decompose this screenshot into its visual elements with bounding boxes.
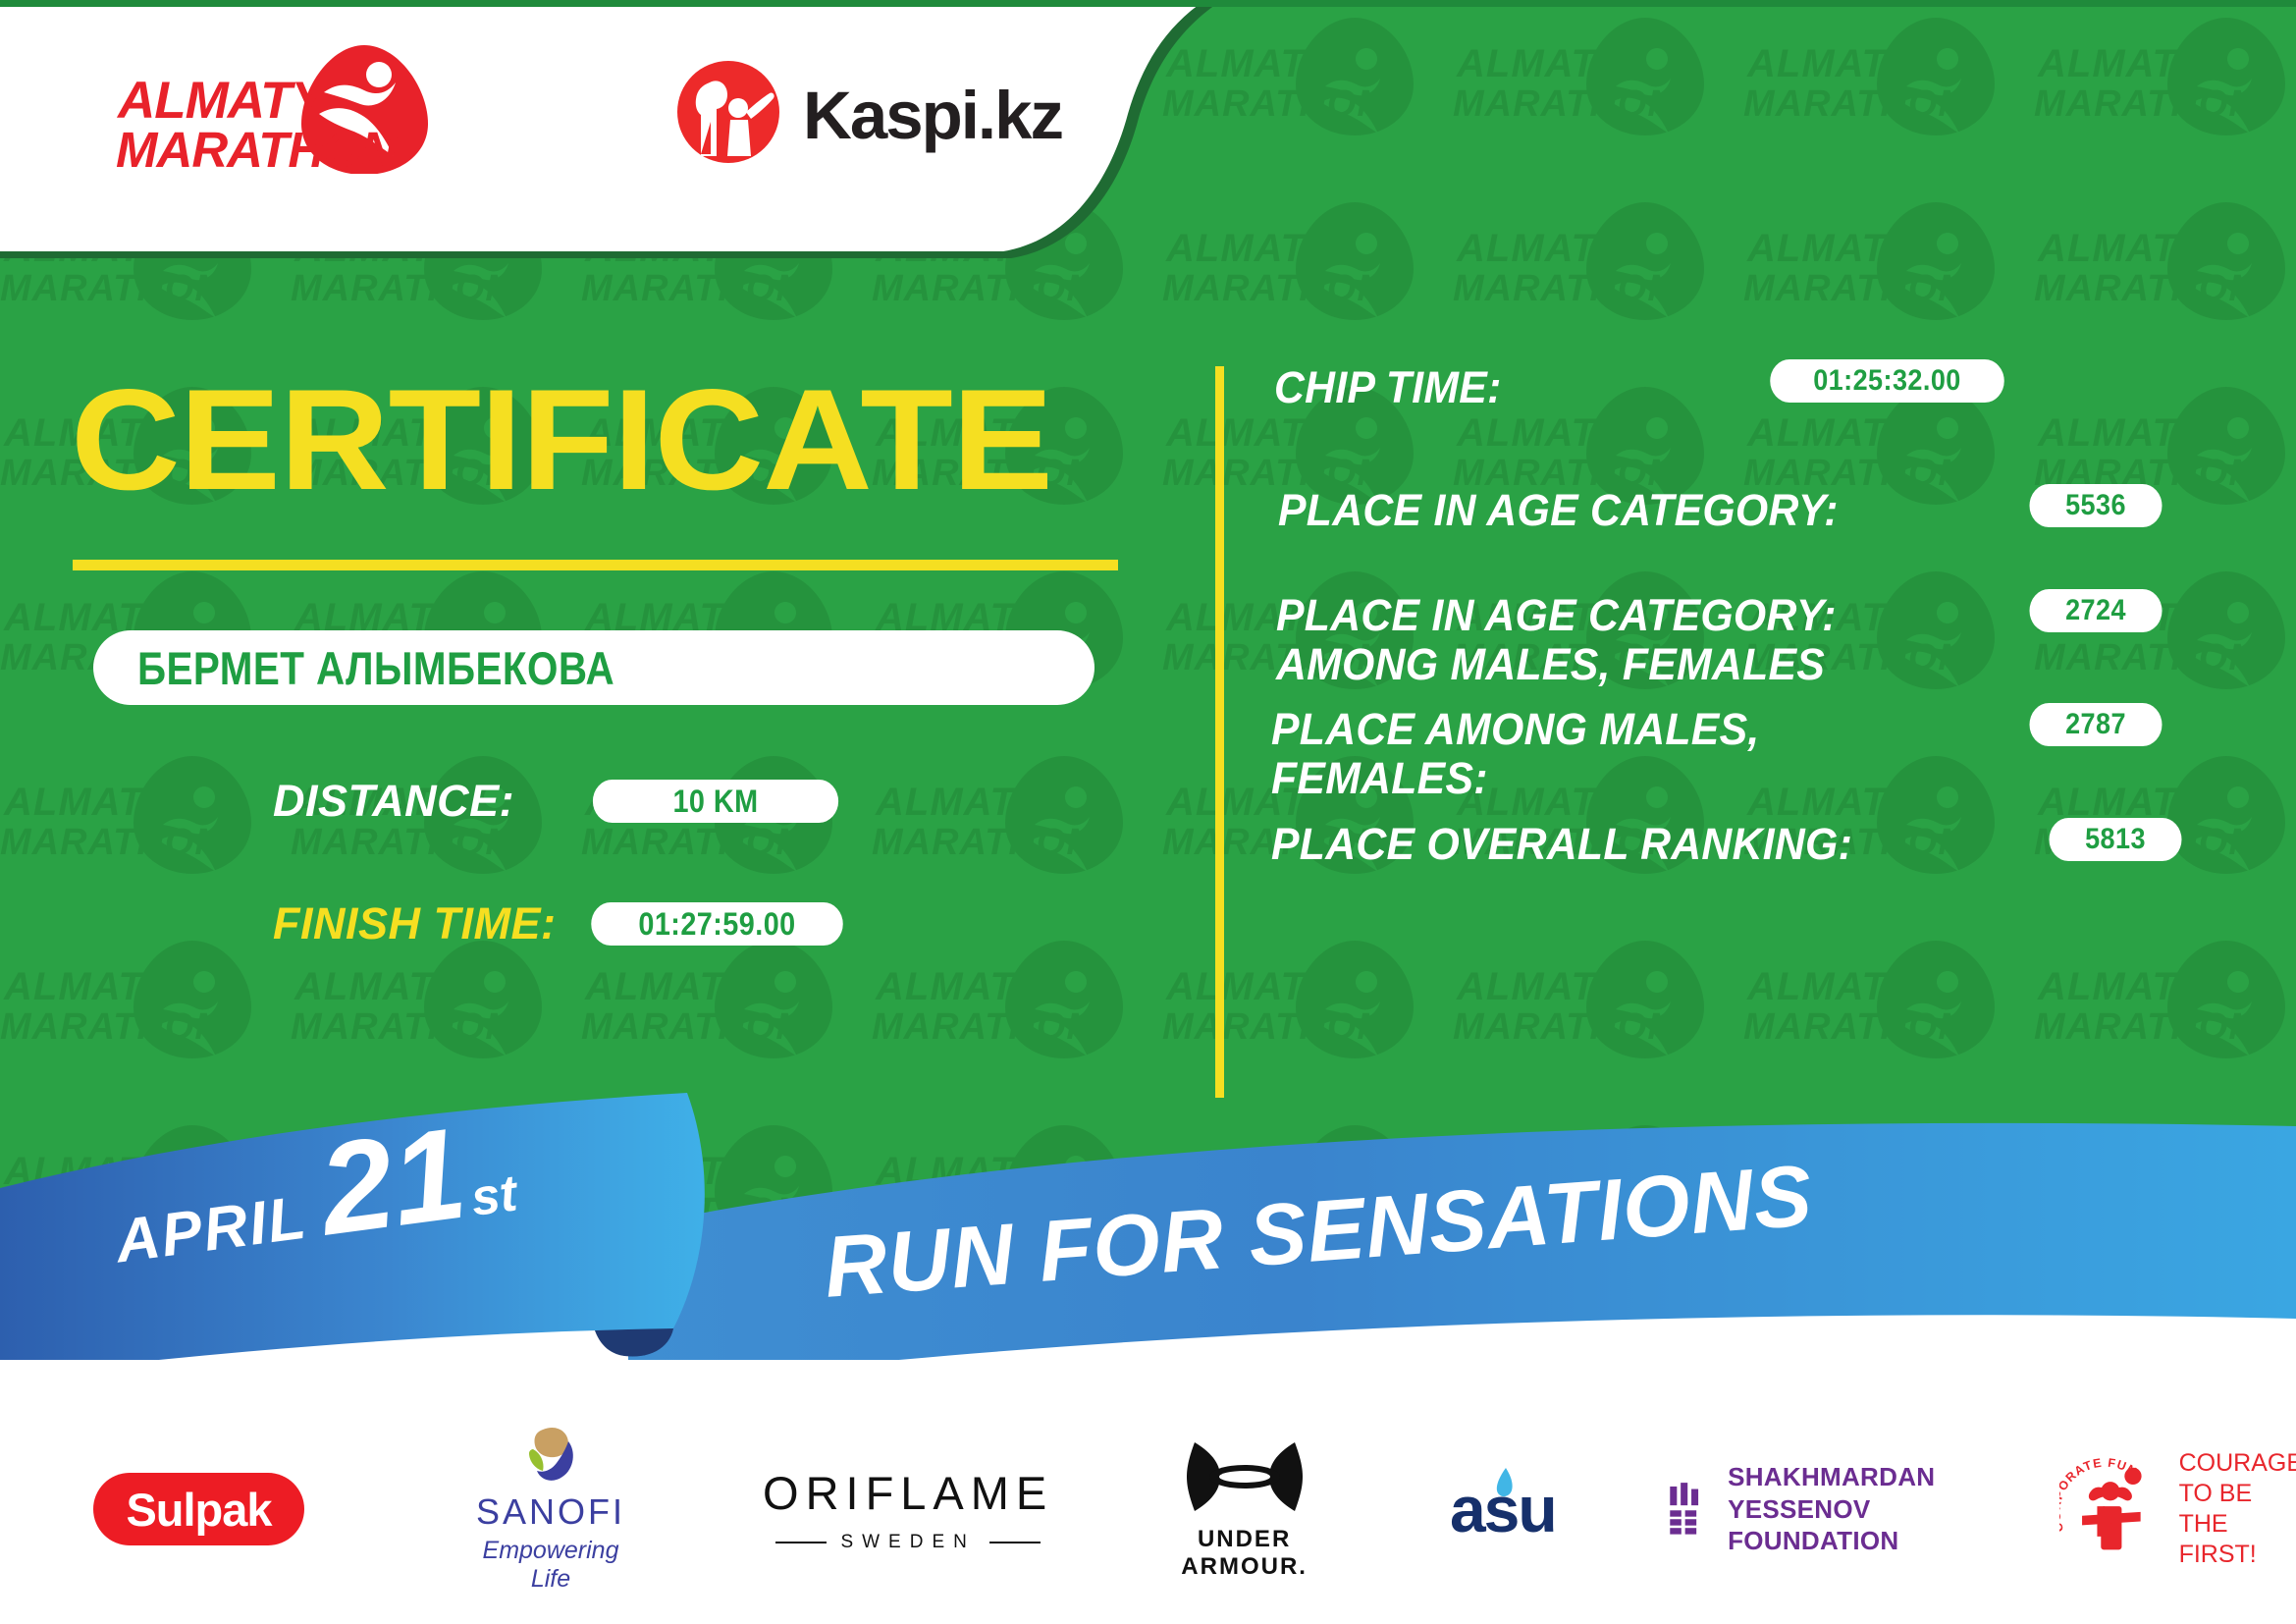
place-among-gender-label: PLACE AMONG MALES,FEMALES:	[1271, 705, 1760, 804]
event-day: 21	[313, 1108, 473, 1255]
courage-line1: COURAGE	[2179, 1448, 2296, 1479]
participant-name-field: БЕРМЕТ АЛЫМБЕКОВА	[93, 630, 1095, 705]
yessenov-bars-icon	[1669, 1468, 1706, 1550]
under-armour-logo: UNDER ARMOUR.	[1181, 1438, 1308, 1581]
oriflame-logo: ORIFLAME SWEDEN	[763, 1466, 1053, 1553]
finish-time-label: FINISH TIME:	[273, 898, 556, 949]
sanofi-name: SANOFI	[476, 1491, 625, 1533]
sanofi-logo: SANOFI Empowering Life	[476, 1426, 625, 1594]
sanofi-tagline: Empowering Life	[476, 1537, 625, 1594]
chip-time-label: CHIP TIME:	[1274, 363, 1502, 412]
courage-fund-runner-icon: CORPORATE FUND	[2059, 1451, 2165, 1567]
place-overall-value: 5813	[2050, 818, 2182, 861]
sponsor-strip: Sulpak SANOFI Empowering Life ORIFLAME S…	[0, 1394, 2296, 1624]
sponsor-sanofi: SANOFI Empowering Life	[476, 1440, 625, 1578]
kaspi-logo-text: Kaspi.kz	[803, 78, 1062, 153]
sponsor-sulpak: Sulpak	[93, 1440, 304, 1578]
sulpak-logo: Sulpak	[93, 1473, 304, 1545]
kaspi-people-circle-icon	[677, 61, 779, 163]
courage-fund-logo: CORPORATE FUND COURAGE TO BE THE FIRST!	[2059, 1448, 2296, 1571]
asu-logo: asu	[1450, 1472, 1556, 1546]
certificate-page: ALMATY MARATHON ALMATY MARATHON	[0, 0, 2296, 1624]
under-armour-mark-icon	[1187, 1438, 1303, 1515]
courage-line2: TO BE	[2179, 1479, 2296, 1509]
place-age-category-gender-value: 2724	[2030, 589, 2163, 632]
almaty-logo-line2: MARATHON	[116, 122, 399, 174]
distance-value: 10 KM	[593, 780, 838, 823]
place-overall-label: PLACE OVERALL RANKING:	[1271, 820, 1852, 869]
yessenov-name-line1: SHAKHMARDAN YESSENOV	[1728, 1461, 1956, 1525]
page-title: CERTIFICATE	[71, 368, 1052, 512]
place-among-gender-value: 2787	[2030, 703, 2163, 746]
courage-line3: THE FIRST!	[2179, 1509, 2296, 1571]
result-row-place-age-category-gender: PLACE IN AGE CATEGORY:AMONG MALES, FEMAL…	[1266, 591, 2189, 690]
oriflame-name: ORIFLAME	[763, 1466, 1053, 1520]
almaty-marathon-logo: ALMATY MARATHON	[116, 41, 440, 174]
oriflame-rule-left	[775, 1542, 827, 1543]
finish-time-row: FINISH TIME: 01:27:59.00	[273, 898, 857, 949]
sponsor-oriflame: ORIFLAME SWEDEN	[763, 1440, 1053, 1578]
under-armour-name: UNDER ARMOUR.	[1181, 1526, 1308, 1581]
top-green-edge	[0, 0, 2296, 7]
yessenov-logo: SHAKHMARDAN YESSENOV FOUNDATION	[1669, 1461, 1956, 1557]
sponsor-asu: asu	[1450, 1440, 1556, 1578]
participant-name-value: БЕРМЕТ АЛЫМБЕКОВА	[137, 641, 614, 695]
place-age-category-gender-label: PLACE IN AGE CATEGORY:AMONG MALES, FEMAL…	[1276, 591, 1837, 690]
finish-time-value: 01:27:59.00	[592, 902, 844, 946]
sponsor-courage-fund: CORPORATE FUND COURAGE TO BE THE FIRST!	[2059, 1440, 2296, 1578]
sponsor-under-armour: UNDER ARMOUR.	[1181, 1440, 1308, 1578]
yessenov-name-line2: FOUNDATION	[1728, 1525, 1956, 1557]
kaspi-logo: Kaspi.kz	[677, 61, 1070, 164]
distance-label: DISTANCE:	[273, 776, 514, 827]
title-underline-rule	[73, 560, 1118, 570]
result-row-place-overall: PLACE OVERALL RANKING: 5813	[1266, 820, 2189, 869]
chip-time-value: 01:25:32.00	[1770, 359, 2004, 403]
sponsor-yessenov-foundation: SHAKHMARDAN YESSENOV FOUNDATION	[1669, 1440, 1956, 1578]
distance-row: DISTANCE: 10 KM	[273, 776, 852, 827]
result-row-place-age-category: PLACE IN AGE CATEGORY: 5536	[1266, 486, 2189, 535]
column-divider	[1215, 366, 1224, 1098]
result-row-place-among-gender: PLACE AMONG MALES,FEMALES: 2787	[1266, 705, 2189, 804]
result-row-chip-time: CHIP TIME: 01:25:32.00	[1266, 363, 2189, 412]
sanofi-mark-icon	[492, 1426, 610, 1487]
oriflame-tagline: SWEDEN	[840, 1532, 975, 1553]
event-day-suffix: st	[467, 1164, 520, 1228]
asu-droplet-icon	[1493, 1466, 1517, 1499]
place-age-category-label: PLACE IN AGE CATEGORY:	[1278, 486, 1839, 535]
oriflame-rule-right	[989, 1542, 1041, 1543]
place-age-category-value: 5536	[2030, 484, 2163, 527]
